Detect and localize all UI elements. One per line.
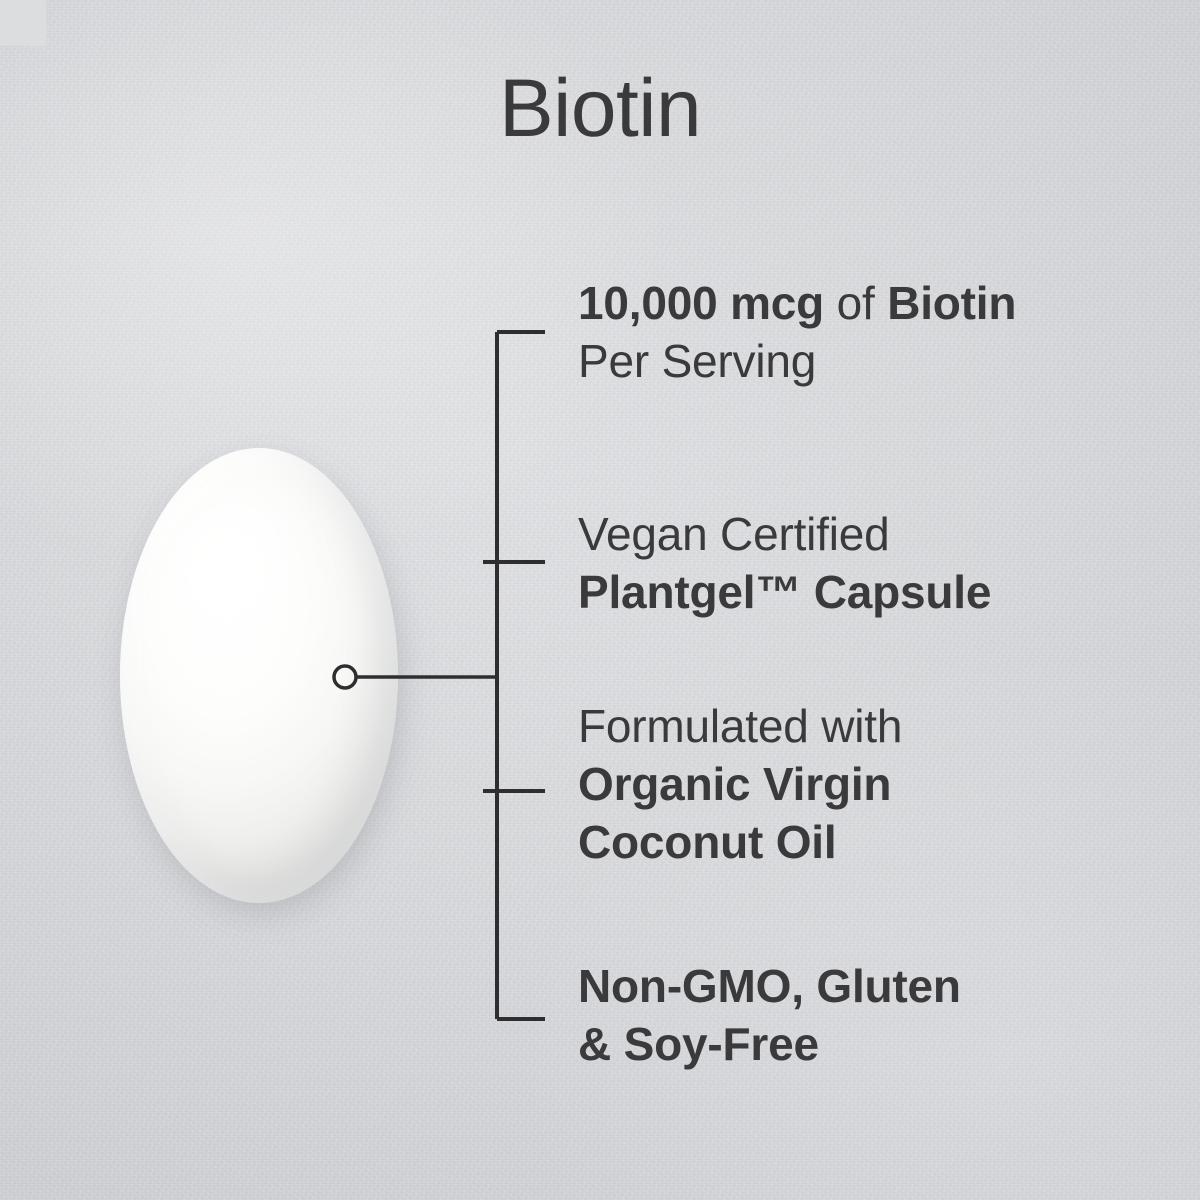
feature-line: Organic Virgin <box>578 755 1138 813</box>
feature-item-coconut-oil: Formulated with Organic Virgin Coconut O… <box>578 697 1138 871</box>
product-infographic: Biotin 10,000 mcg of Biotin Per Serving <box>0 0 1200 1200</box>
feature-line: Plantgel™ Capsule <box>578 563 1138 621</box>
feature-item-vegan-capsule: Vegan Certified Plantgel™ Capsule <box>578 505 1138 621</box>
feature-text: of <box>824 277 887 329</box>
feature-text: 10,000 mcg <box>578 277 824 329</box>
feature-text: Coconut Oil <box>578 816 836 868</box>
feature-line: Per Serving <box>578 332 1138 390</box>
capsule-highlight <box>167 494 317 676</box>
feature-item-dosage: 10,000 mcg of Biotin Per Serving <box>578 274 1138 390</box>
corner-patch-artifact <box>0 0 46 46</box>
feature-text: Organic Virgin <box>578 758 891 810</box>
feature-text: Per Serving <box>578 335 816 387</box>
feature-line: Vegan Certified <box>578 505 1138 563</box>
feature-text: Vegan Certified <box>578 508 890 560</box>
feature-line: Coconut Oil <box>578 813 1138 871</box>
feature-line: Non-GMO, Gluten <box>578 957 1138 1015</box>
feature-line: 10,000 mcg of Biotin <box>578 274 1138 332</box>
page-title: Biotin <box>0 68 1200 150</box>
feature-line: Formulated with <box>578 697 1138 755</box>
feature-text: Plantgel™ Capsule <box>578 566 991 618</box>
feature-text: Non-GMO, Gluten <box>578 960 961 1012</box>
feature-text: & Soy-Free <box>578 1018 819 1070</box>
capsule-image <box>120 448 398 903</box>
feature-text: Biotin <box>887 277 1016 329</box>
capsule-body <box>120 448 398 903</box>
feature-item-free-from: Non-GMO, Gluten & Soy-Free <box>578 957 1138 1073</box>
feature-text: Formulated with <box>578 700 902 752</box>
feature-line: & Soy-Free <box>578 1015 1138 1073</box>
